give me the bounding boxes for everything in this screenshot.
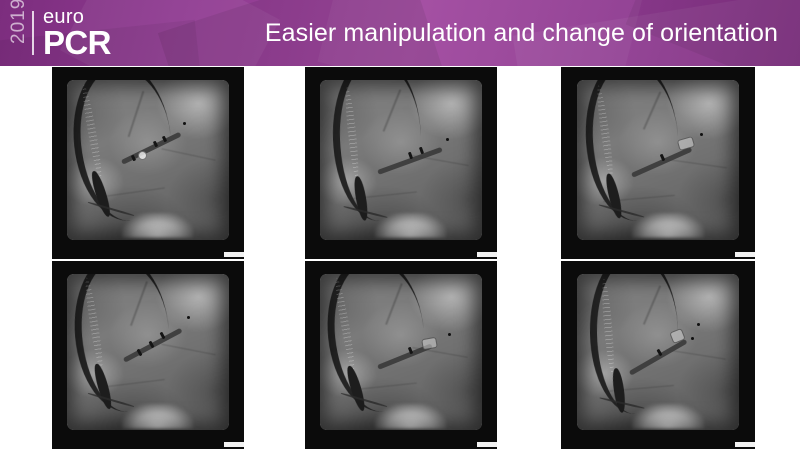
steerable-catheter-shaft — [581, 80, 684, 224]
fluoroscopy-panel-bottom-center[interactable] — [305, 261, 497, 449]
device-head — [669, 328, 686, 344]
steerable-catheter-shaft — [320, 274, 432, 417]
diaphragm-highlight — [122, 404, 193, 429]
vessel-stroke — [385, 283, 402, 324]
panel-info-strip — [224, 252, 244, 257]
radiopaque-marker — [656, 349, 662, 357]
delivery-device-shaft — [629, 339, 688, 376]
vessel-stroke — [130, 282, 148, 327]
catheter-tip — [92, 363, 115, 411]
panel-inner — [52, 67, 244, 259]
delivery-device-shaft — [378, 147, 443, 175]
marker-dot — [183, 122, 186, 125]
rib-stroke — [349, 192, 416, 200]
delivery-device-shaft — [377, 343, 433, 369]
catheter-tip — [344, 364, 367, 412]
rib-stroke — [100, 379, 164, 388]
fluoroscopy-panel-bottom-left[interactable] — [52, 261, 244, 449]
diaphragm-highlight — [122, 213, 193, 238]
catheter-ribbing — [83, 277, 106, 371]
radiopaque-marker — [408, 347, 413, 355]
rib-stroke — [603, 195, 675, 203]
radiopaque-marker — [660, 153, 666, 161]
guidewire — [87, 392, 134, 407]
fluoroscopy-gallery — [0, 66, 800, 450]
diaphragm-highlight — [632, 404, 704, 429]
vessel-stroke — [643, 91, 661, 129]
guidewire — [598, 203, 644, 217]
vessel-stroke — [128, 91, 144, 137]
fluoroscopy-image — [320, 80, 481, 239]
radiopaque-marker — [148, 341, 154, 349]
device-head — [676, 136, 694, 151]
fluoroscopy-image — [67, 274, 228, 430]
panel-inner — [561, 261, 755, 449]
rib-stroke — [411, 155, 468, 166]
anatomy-texture — [67, 274, 228, 430]
marker-dot — [691, 337, 694, 340]
panel-info-strip — [735, 252, 755, 257]
marker-dot — [187, 316, 190, 319]
catheter-ribbing — [600, 279, 616, 373]
vessel-stroke — [643, 285, 661, 324]
europcr-logo: 2019 euro PCR — [8, 4, 143, 62]
diaphragm-highlight — [632, 213, 704, 238]
fluoroscopy-image — [320, 274, 481, 430]
rib-stroke — [100, 188, 164, 198]
panel-inner — [305, 261, 497, 449]
catheter-ribbing — [80, 84, 104, 180]
steerable-catheter-shaft — [67, 80, 179, 226]
fluoroscopy-panel-bottom-right[interactable] — [561, 261, 755, 449]
delivery-device-shaft — [631, 147, 693, 178]
rib-stroke — [413, 347, 469, 358]
marker-dot — [700, 133, 703, 136]
vessel-stroke — [383, 90, 401, 132]
slide-title: Easier manipulation and change of orient… — [160, 0, 790, 66]
marker-dot — [697, 323, 700, 326]
logo-wordmark: euro PCR — [43, 7, 111, 58]
panel-info-strip — [477, 252, 497, 257]
logo-divider — [32, 11, 34, 55]
fluoroscopy-image — [577, 274, 740, 430]
marker-dot — [448, 333, 451, 336]
anatomy-texture — [577, 80, 740, 239]
panel-inner — [561, 67, 755, 259]
panel-inner — [52, 261, 244, 449]
anatomy-texture — [320, 80, 481, 239]
fluoroscopy-panel-top-center[interactable] — [305, 67, 497, 259]
slide-header: 2019 euro PCR Easier manipulation and ch… — [0, 0, 800, 66]
logo-year: 2019 — [8, 22, 30, 44]
radiopaque-marker — [159, 332, 165, 340]
guidewire — [87, 201, 134, 216]
anatomy-texture — [577, 274, 740, 430]
radiopaque-marker — [153, 141, 158, 148]
guidewire — [343, 206, 387, 219]
anatomy-texture — [67, 80, 228, 239]
panel-info-strip — [224, 442, 244, 447]
radiopaque-marker — [419, 147, 424, 155]
radiopaque-marker — [408, 152, 413, 160]
anatomy-texture — [320, 274, 481, 430]
catheter-ribbing — [343, 87, 361, 180]
marker-dot — [446, 138, 449, 141]
rib-stroke — [665, 159, 727, 169]
rib-stroke — [666, 349, 726, 360]
delivery-device-shaft — [121, 132, 181, 165]
guidewire — [600, 397, 645, 409]
fluoroscopy-image — [577, 80, 740, 239]
fluoroscopy-image — [67, 80, 228, 239]
steerable-catheter-shaft — [69, 274, 177, 416]
rib-stroke — [161, 148, 215, 161]
panel-inner — [305, 67, 497, 259]
delivery-device-shaft — [123, 328, 182, 363]
catheter-tip — [604, 172, 625, 219]
fluoroscopy-panel-top-right[interactable] — [561, 67, 755, 259]
logo-pcr-text: PCR — [43, 28, 111, 58]
rib-stroke — [604, 385, 674, 392]
fluoroscopy-panel-top-left[interactable] — [52, 67, 244, 259]
radiopaque-marker — [131, 155, 136, 162]
steerable-catheter-shaft — [330, 80, 423, 222]
catheter-ribbing — [333, 277, 357, 372]
catheter-tip — [611, 367, 627, 413]
guidewire — [340, 392, 387, 407]
device-head — [421, 337, 438, 350]
radiopaque-marker — [161, 136, 166, 143]
panel-info-strip — [477, 442, 497, 447]
catheter-tip — [89, 169, 113, 218]
catheter-tip — [352, 176, 370, 222]
panel-info-strip — [735, 442, 755, 447]
diaphragm-highlight — [375, 213, 446, 238]
catheter-ribbing — [594, 85, 615, 179]
device-head — [138, 151, 147, 160]
rib-stroke — [161, 344, 215, 356]
radiopaque-marker — [137, 349, 143, 357]
rib-stroke — [351, 383, 417, 391]
steerable-catheter-shaft — [588, 274, 679, 414]
diaphragm-highlight — [375, 404, 446, 429]
